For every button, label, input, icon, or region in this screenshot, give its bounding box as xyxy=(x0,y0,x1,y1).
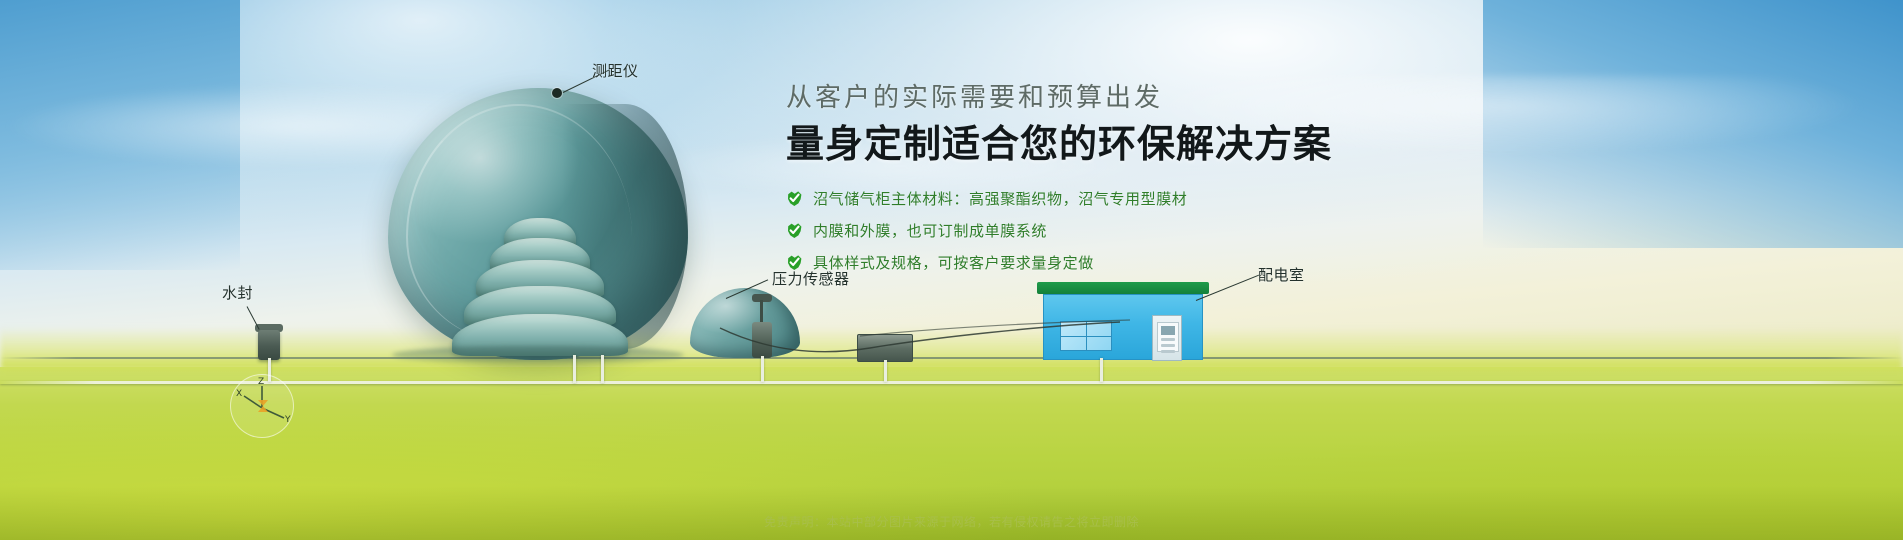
marketing-copy-block: 从客户的实际需要和预算出发 量身定制适合您的环保解决方案 沼气储气柜主体材料：高… xyxy=(786,82,1406,284)
axis-orientation-gizmo: Z Y X xyxy=(230,374,294,438)
list-item: 内膜和外膜，也可订制成单膜系统 xyxy=(786,220,1406,241)
copy-subtitle: 从客户的实际需要和预算出发 xyxy=(786,82,1406,115)
rangefinder-sensor-icon xyxy=(552,88,562,98)
pipe-riser xyxy=(573,355,576,383)
dome-outer-membrane xyxy=(388,88,688,360)
check-badge-icon xyxy=(786,222,803,239)
building-door xyxy=(1152,315,1182,361)
svg-text:Y: Y xyxy=(284,415,291,425)
list-item-label: 沼气储气柜主体材料：高强聚酯织物，沼气专用型膜材 xyxy=(813,188,1187,209)
signal-cable xyxy=(700,282,1120,392)
banner-hero: 测距仪 水封 压力传感器 配电室 xyxy=(0,0,1903,540)
disclaimer-text: 免责声明：本站中部分图片来源于网络，若有侵权请告之将立即删除 xyxy=(0,513,1903,530)
label-rangefinder: 测距仪 xyxy=(592,60,639,81)
water-seal-unit xyxy=(258,330,280,360)
feature-bullet-list: 沼气储气柜主体材料：高强聚酯织物，沼气专用型膜材 内膜和外膜，也可订制成单膜系统 xyxy=(786,188,1406,273)
copy-headline: 量身定制适合您的环保解决方案 xyxy=(786,121,1406,169)
check-badge-icon xyxy=(786,254,803,271)
list-item: 沼气储气柜主体材料：高强聚酯织物，沼气专用型膜材 xyxy=(786,188,1406,209)
dome-base-shadow xyxy=(392,346,684,364)
svg-text:Z: Z xyxy=(258,377,264,387)
list-item-label: 具体样式及规格，可按客户要求量身定做 xyxy=(813,252,1094,273)
list-item: 具体样式及规格，可按客户要求量身定做 xyxy=(786,252,1406,273)
svg-text:X: X xyxy=(236,389,242,399)
biogas-dome-holder xyxy=(388,88,688,360)
list-item-label: 内膜和外膜，也可订制成单膜系统 xyxy=(813,220,1047,241)
label-water-seal: 水封 xyxy=(222,282,253,303)
control-panel-icon xyxy=(1157,322,1179,352)
dome-inner-structure xyxy=(450,200,630,356)
pipe-riser xyxy=(601,355,604,383)
check-badge-icon xyxy=(786,190,803,207)
